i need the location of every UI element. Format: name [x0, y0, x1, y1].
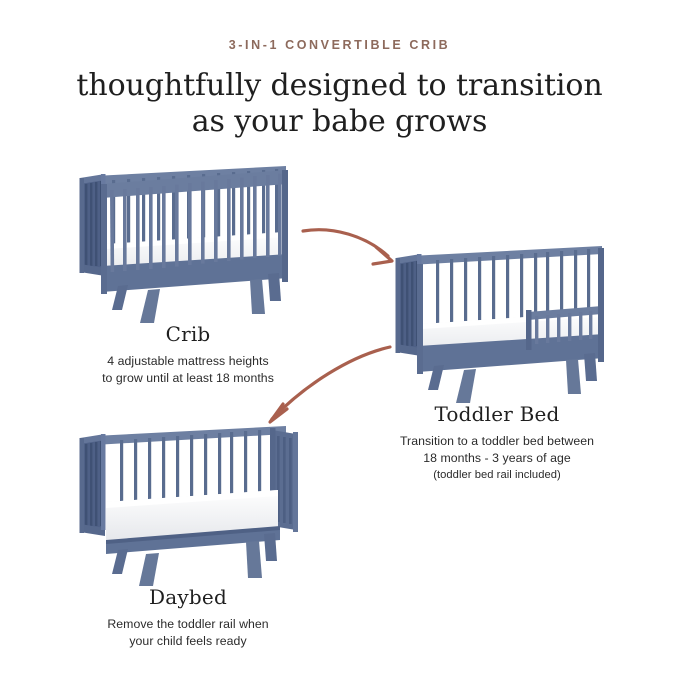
infographic-page: 3-IN-1 CONVERTIBLE CRIB thoughtfully des… — [0, 0, 679, 679]
stage-note-toddler: (toddler bed rail included) — [362, 467, 632, 483]
headline-line-2: as your babe grows — [0, 104, 679, 140]
arrow-crib-to-toddler — [303, 230, 392, 264]
daybed-illustration — [72, 418, 312, 586]
stage-desc-crib-line-2: to grow until at least 18 months — [53, 370, 323, 387]
stage-title-crib: Crib — [53, 322, 323, 346]
stage-title-toddler: Toddler Bed — [362, 402, 632, 426]
crib-illustration — [72, 158, 312, 323]
stage-desc-crib-line-1: 4 adjustable mattress heights — [53, 353, 323, 370]
stage-desc-daybed-line-2: your child feels ready — [53, 633, 323, 650]
caption-toddler-bed: Toddler Bed Transition to a toddler bed … — [362, 402, 632, 483]
caption-daybed: Daybed Remove the toddler rail when your… — [53, 585, 323, 650]
toddler-bed-illustration — [388, 238, 628, 403]
headline-line-1: thoughtfully designed to transition — [76, 68, 602, 103]
stage-desc-daybed-line-1: Remove the toddler rail when — [53, 616, 323, 633]
page-title: thoughtfully designed to transition as y… — [0, 68, 679, 140]
stage-desc-toddler-line-2: 18 months - 3 years of age — [362, 450, 632, 467]
eyebrow-label: 3-IN-1 CONVERTIBLE CRIB — [0, 38, 679, 52]
stage-desc-toddler-line-1: Transition to a toddler bed between — [362, 433, 632, 450]
stage-title-daybed: Daybed — [53, 585, 323, 609]
caption-crib: Crib 4 adjustable mattress heights to gr… — [53, 322, 323, 387]
